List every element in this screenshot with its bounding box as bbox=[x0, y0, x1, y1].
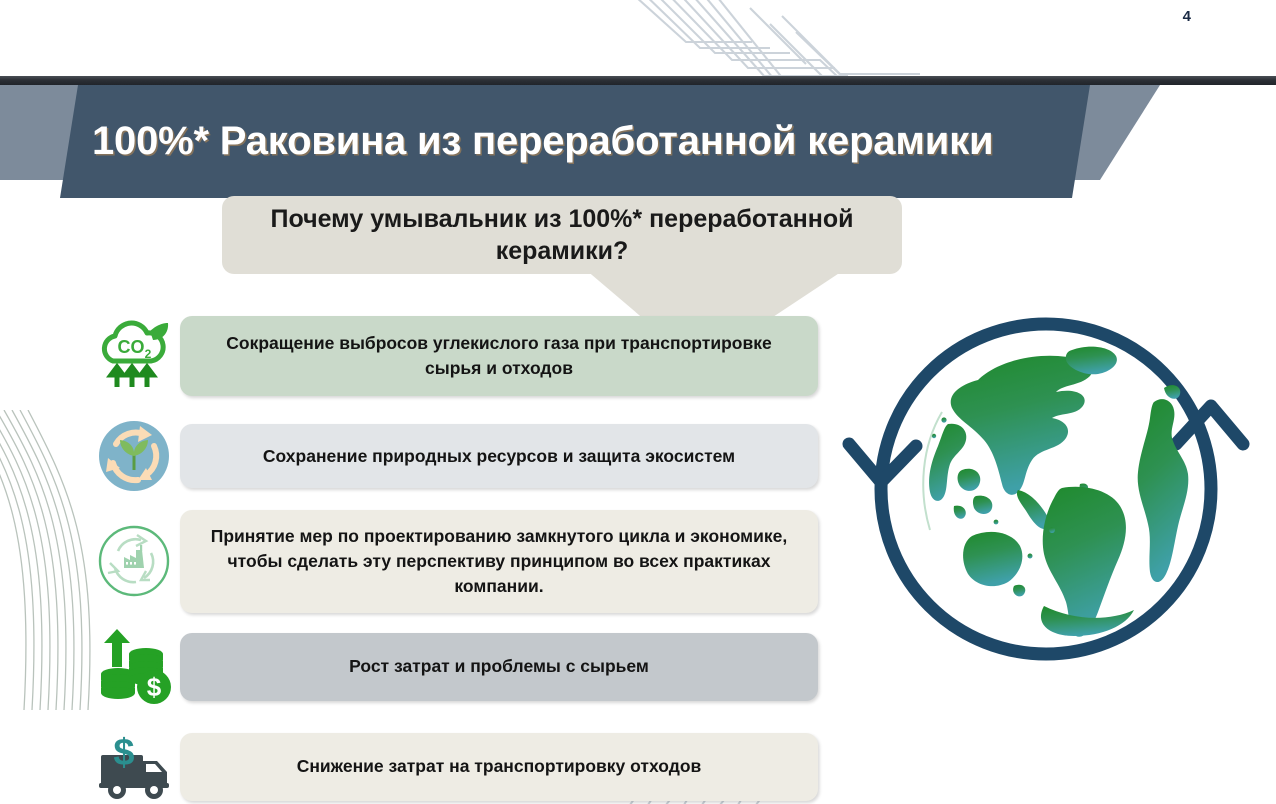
svg-text:$: $ bbox=[113, 732, 134, 774]
benefit-pill: Снижение затрат на транспортировку отход… bbox=[180, 733, 818, 801]
slide-canvas: 4 100%* Раковина из переработанной керам… bbox=[0, 0, 1276, 804]
benefit-text: Рост затрат и проблемы с сырьем bbox=[349, 654, 649, 679]
title-banner: 100%* Раковина из переработанной керамик… bbox=[0, 85, 1276, 200]
svg-text:CO: CO bbox=[118, 337, 145, 357]
benefit-text: Принятие мер по проектированию замкнутог… bbox=[206, 524, 792, 599]
benefit-text: Сокращение выбросов углекислого газа при… bbox=[206, 331, 792, 381]
page-number: 4 bbox=[1183, 8, 1191, 25]
header-divider bbox=[0, 76, 1276, 85]
benefit-pill: Сохранение природных ресурсов и защита э… bbox=[180, 424, 818, 488]
recycle-plant-circle-icon bbox=[88, 410, 180, 502]
svg-text:$: $ bbox=[147, 672, 162, 702]
rising-cost-coins-icon: $ bbox=[88, 621, 180, 713]
list-item[interactable]: $ Рост затрат и проблемы с сырьем bbox=[88, 621, 818, 713]
benefit-pill: Принятие мер по проектированию замкнутог… bbox=[180, 510, 818, 613]
svg-text:2: 2 bbox=[145, 347, 152, 361]
benefit-text: Снижение затрат на транспортировку отход… bbox=[297, 754, 702, 779]
callout-speech-bubble: Почему умывальник из 100%* переработанно… bbox=[222, 196, 902, 321]
benefit-pill: Сокращение выбросов углекислого газа при… bbox=[180, 316, 818, 396]
benefit-text: Сохранение природных ресурсов и защита э… bbox=[263, 444, 735, 469]
circuit-line-pattern-icon bbox=[620, 0, 1040, 78]
benefits-list: CO 2 Сокращение выбросов углекислого газ… bbox=[88, 310, 818, 804]
globe-recycling-icon bbox=[826, 284, 1266, 694]
recycle-factory-circle-icon bbox=[88, 515, 180, 607]
list-item[interactable]: Принятие мер по проектированию замкнутог… bbox=[88, 510, 818, 613]
list-item[interactable]: Сохранение природных ресурсов и защита э… bbox=[88, 410, 818, 502]
delivery-truck-cost-icon: $ bbox=[88, 721, 180, 804]
benefit-pill: Рост затрат и проблемы с сырьем bbox=[180, 633, 818, 701]
callout-body: Почему умывальник из 100%* переработанно… bbox=[222, 196, 902, 274]
callout-text: Почему умывальник из 100%* переработанно… bbox=[244, 203, 880, 267]
list-item[interactable]: CO 2 Сокращение выбросов углекислого газ… bbox=[88, 310, 818, 402]
title-banner-main: 100%* Раковина из переработанной керамик… bbox=[60, 85, 1090, 198]
co2-cloud-icon: CO 2 bbox=[88, 310, 180, 402]
list-item[interactable]: $ Снижение затрат на транспортировку отх… bbox=[88, 721, 818, 804]
page-title: 100%* Раковина из переработанной керамик… bbox=[92, 119, 993, 164]
